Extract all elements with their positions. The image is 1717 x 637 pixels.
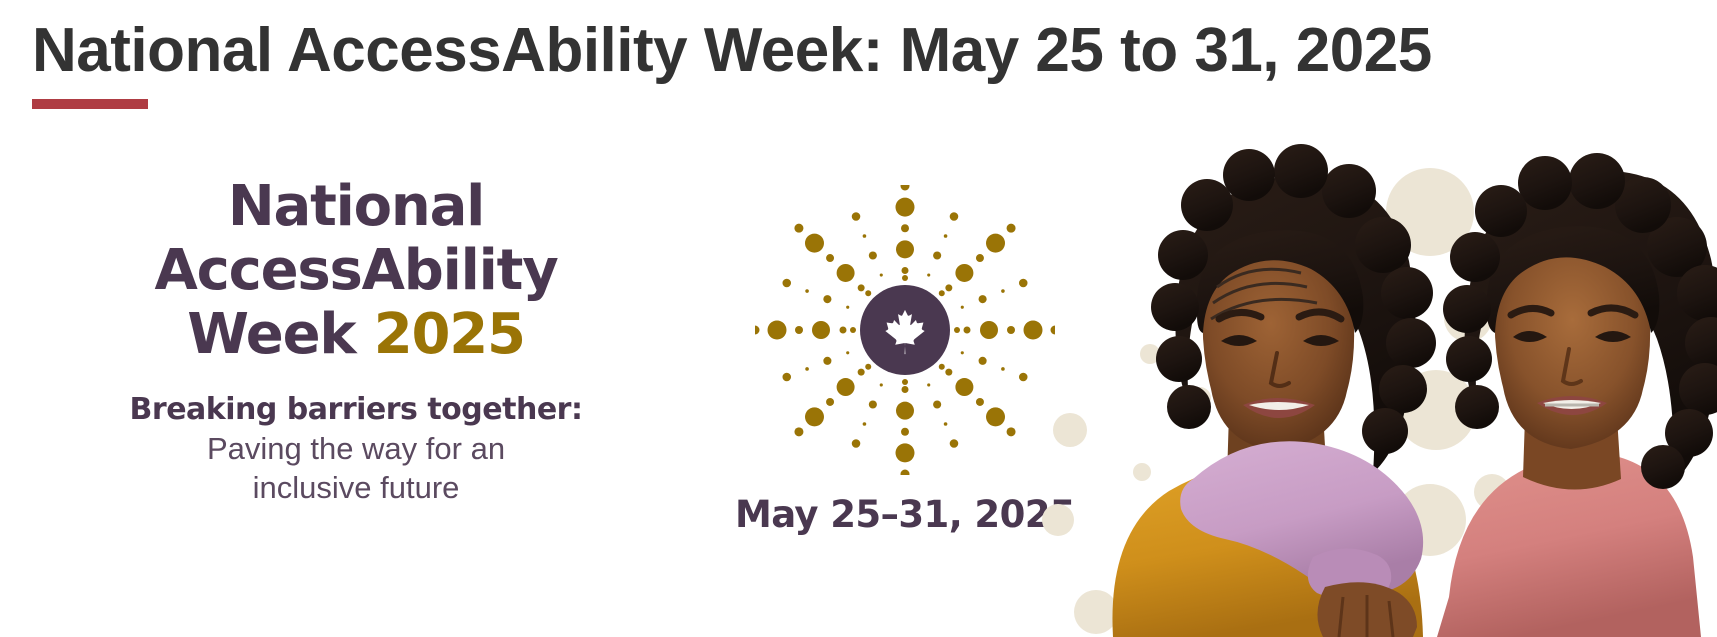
tagline-light-line-2: inclusive future [96,468,616,507]
wordmark-week: Week [187,302,355,367]
banner: National AccessAbility Week 2025 Breakin… [0,130,1717,637]
dot-mandala-graphic [755,185,1055,475]
tagline: Breaking barriers together: Paving the w… [96,392,616,507]
tagline-light-line-1: Paving the way for an [96,429,616,468]
banner-photo [1077,127,1717,637]
heading-underline-rule [32,99,148,109]
nationa-accessability-week-banner-page: National AccessAbility Week: May 25 to 3… [0,0,1717,637]
page-heading: National AccessAbility Week: May 25 to 3… [32,18,1532,109]
wordmark-line-accessability: AccessAbility [96,239,616,303]
naaw-wordmark: National AccessAbility Week 2025 Breakin… [96,175,616,507]
tagline-bold: Breaking barriers together: [96,392,616,429]
wordmark-lines: National AccessAbility Week 2025 [96,175,616,366]
wordmark-year: 2025 [374,302,525,367]
wordmark-line-national: National [96,175,616,239]
wordmark-line-week-year: Week 2025 [96,303,616,367]
page-title: National AccessAbility Week: May 25 to 3… [32,18,1532,85]
two-women-photo-illustration [1077,127,1717,637]
